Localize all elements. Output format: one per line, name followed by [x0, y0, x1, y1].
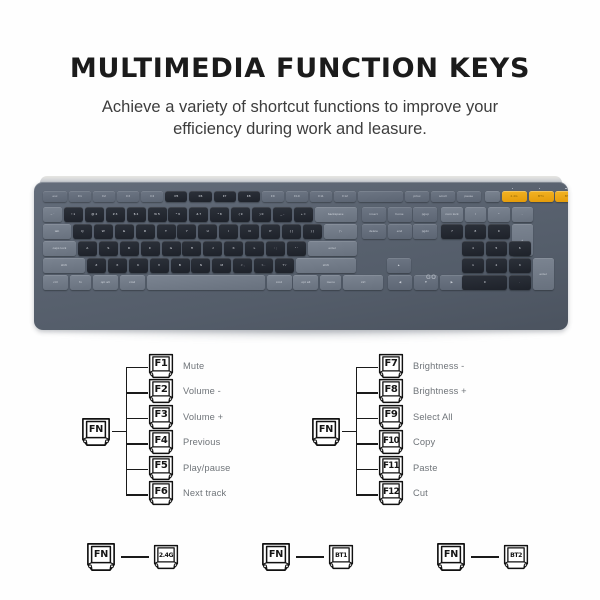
key-"-'[interactable]: " '	[287, 241, 306, 256]
key-num-lock[interactable]: num lock	[441, 207, 463, 222]
right-branch-line	[356, 469, 378, 470]
key-/[interactable]: /	[465, 207, 487, 222]
left-fn-connector	[112, 431, 126, 432]
right-branch-line	[356, 443, 378, 444]
pair-connector-line	[121, 556, 149, 558]
key-r[interactable]: R	[136, 224, 155, 239]
key-arrow-left[interactable]: ◀	[388, 275, 412, 290]
key-h[interactable]: H	[182, 241, 201, 256]
key-*[interactable]: *	[488, 207, 510, 222]
fkey-f12-label: F12	[378, 480, 404, 506]
fkey-f5[interactable]: F5	[148, 455, 174, 481]
fkey-f3-label: F3	[148, 404, 174, 430]
key-4[interactable]: 4	[462, 241, 484, 256]
key-amber-bt1[interactable]: BT1	[529, 191, 554, 202]
indicator-led	[512, 188, 514, 190]
shortcut-action-label: Brightness +	[413, 386, 467, 396]
pair-fn-key-2-label: FN	[260, 542, 292, 572]
key-ctrl[interactable]: ctrl	[343, 275, 383, 290]
key-|-\[interactable]: | \	[324, 224, 357, 239]
right-branch-line	[356, 418, 378, 419]
key-.[interactable]: .	[509, 275, 531, 290]
fkey-f12[interactable]: F12	[378, 480, 404, 506]
keyboard-illustration: escF1F2F3F4F5F6F7F8F9F10F11F12prtscscrol…	[28, 176, 574, 336]
key-opt-alt[interactable]: opt alt	[93, 275, 118, 290]
key-backspace[interactable]: backspace	[315, 207, 357, 222]
key-x[interactable]: X	[108, 258, 127, 273]
key-caps-lock[interactable]: caps lock	[43, 241, 76, 256]
key->-.[interactable]: > .	[254, 258, 273, 273]
key-0[interactable]: 0	[462, 275, 507, 290]
key-e[interactable]: E	[115, 224, 134, 239]
key-f3[interactable]: F3	[117, 191, 139, 202]
key-@-2[interactable]: @ 2	[85, 207, 104, 222]
key-esc[interactable]: esc	[43, 191, 67, 202]
key-arrow-up[interactable]: ▲	[387, 258, 411, 273]
key-prtsc[interactable]: prtsc	[405, 191, 429, 202]
fkey-f11[interactable]: F11	[378, 455, 404, 481]
shortcut-action-label: Next track	[183, 488, 226, 498]
key-l[interactable]: L	[245, 241, 264, 256]
shortcut-row: F3Volume +	[148, 405, 223, 429]
key-p[interactable]: P	[261, 224, 280, 239]
key-v[interactable]: V	[150, 258, 169, 273]
right-branch-line	[356, 392, 378, 393]
key-power-indicator[interactable]	[485, 191, 500, 202]
key-3[interactable]: 3	[509, 258, 531, 273]
fkey-f4-label: F4	[148, 429, 174, 455]
left-bus-line	[126, 367, 127, 495]
key-y[interactable]: Y	[177, 224, 196, 239]
pair-fn-key-3[interactable]: FN	[435, 542, 467, 572]
key-f4[interactable]: F4	[141, 191, 163, 202]
pair-fn-key-1[interactable]: FN	[85, 542, 117, 572]
shortcut-row: F10Copy	[378, 430, 435, 454]
key-f1[interactable]: F1	[69, 191, 91, 202]
key-arrow-right[interactable]: ▶	[440, 275, 464, 290]
key-!-1[interactable]: ! 1	[64, 207, 83, 222]
pair-fn-key-2[interactable]: FN	[260, 542, 292, 572]
key-u[interactable]: U	[198, 224, 217, 239]
keyboard-body: escF1F2F3F4F5F6F7F8F9F10F11F12prtscscrol…	[34, 182, 568, 330]
key-8[interactable]: 8	[465, 224, 487, 239]
key-g[interactable]: G	[162, 241, 181, 256]
key-f6[interactable]: F6	[189, 191, 211, 202]
key-#-3[interactable]: # 3	[106, 207, 125, 222]
fkey-f9-label: F9	[378, 404, 404, 430]
shortcut-action-label: Volume -	[183, 386, 221, 396]
key-cmd[interactable]: cmd	[120, 275, 145, 290]
shortcut-action-label: Select All	[413, 412, 453, 422]
key-i[interactable]: I	[219, 224, 238, 239]
key--[interactable]: -	[512, 207, 534, 222]
shortcut-row: F4Previous	[148, 430, 220, 454]
key-2[interactable]: 2	[486, 258, 508, 273]
key-5[interactable]: 5	[486, 241, 508, 256]
key-pgup[interactable]: pgup	[413, 207, 437, 222]
key-&-7[interactable]: & 7	[189, 207, 208, 222]
shortcut-action-label: Paste	[413, 463, 438, 473]
left-fn-key-label: FN	[80, 417, 112, 447]
key-cmd[interactable]: cmd	[267, 275, 292, 290]
page-subtitle: Achieve a variety of shortcut functions …	[80, 96, 520, 142]
key-1[interactable]: 1	[462, 258, 484, 273]
key-a[interactable]: A	[78, 241, 97, 256]
right-branch-line	[356, 367, 378, 368]
key-<-,[interactable]: < ,	[233, 258, 252, 273]
key-f2[interactable]: F2	[93, 191, 115, 202]
right-fn-key-label: FN	[310, 417, 342, 447]
left-branch-line	[126, 494, 148, 495]
pair-target-key-bt2[interactable]: BT2	[503, 544, 529, 570]
key-d[interactable]: D	[120, 241, 139, 256]
key-^-6[interactable]: ^ 6	[168, 207, 187, 222]
right-fn-key[interactable]: FN	[310, 417, 342, 447]
indicator-led	[539, 188, 541, 190]
left-branch-line	[126, 392, 148, 393]
keyboard-brand-logo: GO	[426, 275, 437, 281]
fkey-f3[interactable]: F3	[148, 404, 174, 430]
left-branch-line	[126, 443, 148, 444]
key-w[interactable]: W	[94, 224, 113, 239]
fkey-f2-label: F2	[148, 378, 174, 404]
pair-fn-key-1-label: FN	[85, 542, 117, 572]
pair-target-key-bt1[interactable]: BT1	[328, 544, 354, 570]
shortcut-action-label: Play/pause	[183, 463, 231, 473]
fkey-f7-label: F7	[378, 353, 404, 379]
shortcut-row: F8Brightness +	[378, 379, 467, 403]
key-%-5[interactable]: % 5	[148, 207, 167, 222]
key-9[interactable]: 9	[488, 224, 510, 239]
key-ctrl[interactable]: ctrl	[43, 275, 68, 290]
pair-connector-line	[471, 556, 499, 558]
header: MULTIMEDIA FUNCTION KEYS Achieve a varie…	[0, 56, 600, 141]
shortcut-diagram-right: FN F7Brightness - F8Brightness + F9Selec…	[310, 350, 540, 515]
shortcut-action-label: Brightness -	[413, 361, 464, 371]
key-$-4[interactable]: $ 4	[127, 207, 146, 222]
key-tab[interactable]: tab	[43, 224, 71, 239]
shortcut-row: F6Next track	[148, 481, 226, 505]
left-fn-key[interactable]: FN	[80, 417, 112, 447]
key-7[interactable]: 7	[441, 224, 463, 239]
fkey-f5-label: F5	[148, 455, 174, 481]
key-?-/[interactable]: ? /	[275, 258, 294, 273]
pair-target-key-24g[interactable]: 2.4G	[153, 544, 179, 570]
key-fn[interactable]: fn	[70, 275, 91, 290]
pairing-combo: FN BT1	[260, 542, 354, 572]
shortcut-row: F11Paste	[378, 456, 438, 480]
left-branch-line	[126, 418, 148, 419]
pairing-combo: FN 2.4G	[85, 542, 179, 572]
fkey-f6-label: F6	[148, 480, 174, 506]
right-fn-connector	[342, 431, 356, 432]
key-enter[interactable]: enter	[308, 241, 357, 256]
key-amber-bt2[interactable]: BT2	[555, 191, 568, 202]
key-6[interactable]: 6	[509, 241, 531, 256]
shortcut-row: F12Cut	[378, 481, 428, 505]
key-pause[interactable]: pause	[457, 191, 481, 202]
key-}-][interactable]: } ]	[303, 224, 322, 239]
left-branch-line	[126, 367, 148, 368]
fkey-f1[interactable]: F1	[148, 353, 174, 379]
key-c[interactable]: C	[129, 258, 148, 273]
product-infographic: MULTIMEDIA FUNCTION KEYS Achieve a varie…	[0, 0, 600, 600]
fkey-f8-label: F8	[378, 378, 404, 404]
shortcut-action-label: Volume +	[183, 412, 223, 422]
fkey-f10[interactable]: F10	[378, 429, 404, 455]
key-insert[interactable]: insert	[362, 207, 386, 222]
key-media[interactable]	[358, 191, 403, 202]
pair-target-key-bt1-label: BT1	[328, 544, 354, 570]
key-enter[interactable]: enter	[533, 258, 555, 290]
key-z[interactable]: Z	[87, 258, 106, 273]
key-o[interactable]: O	[240, 224, 259, 239]
key-shift[interactable]: shift	[296, 258, 356, 273]
fkey-f6[interactable]: F6	[148, 480, 174, 506]
key-(-9[interactable]: ( 9	[231, 207, 250, 222]
shortcut-diagram-left: FN F1Mute F2Volume - F3Volume +	[80, 350, 310, 515]
fkey-f2[interactable]: F2	[148, 378, 174, 404]
key-_--[interactable]: _ -	[273, 207, 292, 222]
shortcut-action-label: Copy	[413, 437, 435, 447]
pairing-shortcuts: FN 2.4G FN BT1	[0, 540, 600, 588]
fkey-f11-label: F11	[378, 455, 404, 481]
key-f11[interactable]: F11	[310, 191, 332, 202]
key-j[interactable]: J	[203, 241, 222, 256]
key-b[interactable]: B	[171, 258, 190, 273]
fkey-f7[interactable]: F7	[378, 353, 404, 379]
key-home[interactable]: home	[388, 207, 412, 222]
key-amber-24g[interactable]: 2.4G	[502, 191, 527, 202]
shortcut-row: F1Mute	[148, 354, 204, 378]
pair-target-key-bt2-label: BT2	[503, 544, 529, 570]
key-*-8[interactable]: * 8	[210, 207, 229, 222]
shortcut-row: F5Play/pause	[148, 456, 231, 480]
fkey-f9[interactable]: F9	[378, 404, 404, 430]
pair-target-key-24g-label: 2.4G	[153, 544, 179, 570]
key-f12[interactable]: F12	[334, 191, 356, 202]
shortcut-action-label: Mute	[183, 361, 204, 371]
key-delete[interactable]: delete	[362, 224, 386, 239]
key-end[interactable]: end	[388, 224, 412, 239]
right-bus-line	[356, 367, 357, 495]
key-t[interactable]: T	[157, 224, 176, 239]
shortcut-row: F9Select All	[378, 405, 453, 429]
fkey-f4[interactable]: F4	[148, 429, 174, 455]
key-shift[interactable]: shift	[43, 258, 85, 273]
key-m[interactable]: M	[212, 258, 231, 273]
key-f5[interactable]: F5	[165, 191, 187, 202]
page-title: MULTIMEDIA FUNCTION KEYS	[0, 56, 600, 83]
shortcut-row: F2Volume -	[148, 379, 221, 403]
fkey-f1-label: F1	[148, 353, 174, 379]
right-branch-line	[356, 494, 378, 495]
left-branch-line	[126, 469, 148, 470]
pairing-combo: FN BT2	[435, 542, 529, 572]
pair-fn-key-3-label: FN	[435, 542, 467, 572]
keyboard-keys: escF1F2F3F4F5F6F7F8F9F10F11F12prtscscrol…	[34, 182, 568, 330]
key-)-0[interactable]: ) 0	[252, 207, 271, 222]
key-:-;[interactable]: : ;	[266, 241, 285, 256]
key-k[interactable]: K	[224, 241, 243, 256]
fkey-f8[interactable]: F8	[378, 378, 404, 404]
key-f[interactable]: F	[141, 241, 160, 256]
shortcut-action-label: Cut	[413, 488, 428, 498]
key-f9[interactable]: F9	[262, 191, 284, 202]
fkey-f10-label: F10	[378, 429, 404, 455]
key-f10[interactable]: F10	[286, 191, 308, 202]
pair-connector-line	[296, 556, 324, 558]
key-+-=[interactable]: + =	[294, 207, 313, 222]
key-pgdn[interactable]: pgdn	[413, 224, 437, 239]
indicator-led	[565, 188, 567, 190]
key-space[interactable]	[147, 275, 265, 290]
key-menu[interactable]: menu	[320, 275, 341, 290]
key-f7[interactable]: F7	[214, 191, 236, 202]
key-n[interactable]: N	[191, 258, 210, 273]
shortcut-row: F7Brightness -	[378, 354, 464, 378]
key-scroll[interactable]: scroll	[431, 191, 455, 202]
key-s[interactable]: S	[99, 241, 118, 256]
key-opt-alt[interactable]: opt alt	[293, 275, 318, 290]
key-f8[interactable]: F8	[238, 191, 260, 202]
key-{-[[interactable]: { [	[282, 224, 301, 239]
shortcut-action-label: Previous	[183, 437, 220, 447]
key-q[interactable]: Q	[73, 224, 92, 239]
key-~-`[interactable]: ~ `	[43, 207, 62, 222]
